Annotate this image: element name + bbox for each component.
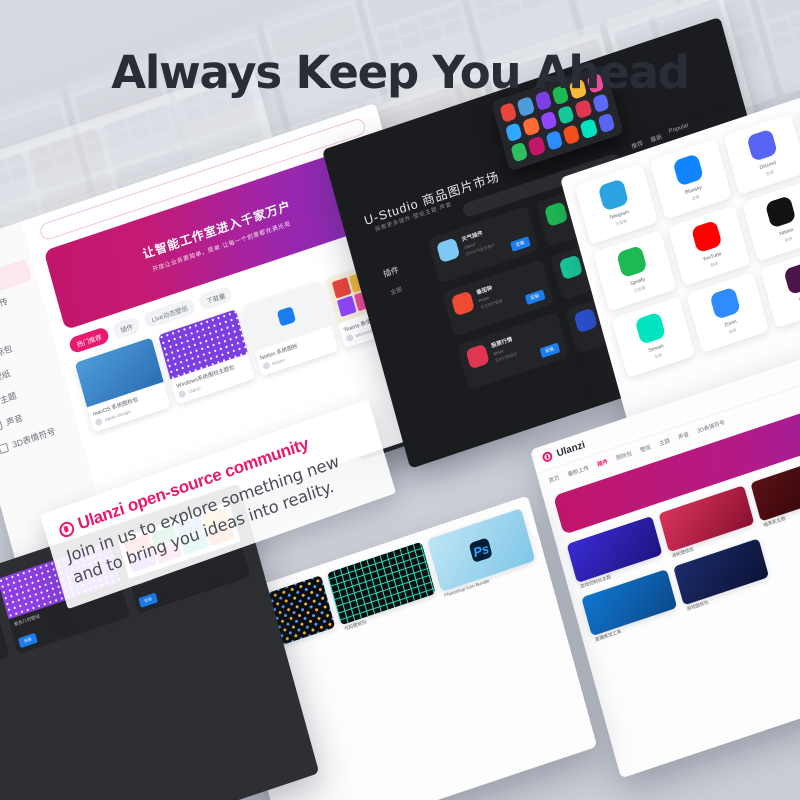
weather-icon: [436, 237, 460, 263]
card-author: Ulanzi: [188, 386, 201, 395]
discord-icon: [747, 128, 779, 161]
system-monitor-icon: [558, 255, 582, 281]
sidebar-item-label: 主题: [0, 389, 18, 406]
app-tile[interactable]: Bluesky 安装: [649, 139, 732, 220]
sidebar-item-label: 图标包: [0, 342, 14, 362]
spotify-icon: [616, 245, 648, 278]
youtube-icon: [691, 220, 723, 253]
sidebar-item-label: 壁纸: [0, 367, 12, 384]
install-button[interactable]: 安装: [138, 592, 158, 607]
notion-icon: [765, 195, 797, 228]
asset-card[interactable]: Notion 系统图标 Notion: [242, 281, 338, 376]
chip-downloads[interactable]: 下载量: [198, 285, 234, 311]
sidebar-item-label: 声音: [5, 412, 24, 429]
app-tile[interactable]: Discord 安装: [723, 114, 800, 195]
bluesky-icon: [672, 153, 704, 186]
card-author: Notion: [271, 357, 285, 366]
stream-icon: [635, 312, 667, 345]
page-headline: Always Keep You Ahead: [0, 46, 800, 99]
app-tile[interactable]: Notion 安装: [742, 180, 800, 261]
nav-plugins[interactable]: 插件: [596, 457, 609, 468]
section-subtitle: 全部: [389, 284, 403, 297]
nav-home[interactable]: 首页: [548, 473, 561, 484]
ulanzi-mark-icon: [57, 519, 75, 538]
analytics-icon: [573, 308, 597, 334]
app-tile[interactable]: Spotify 已安装: [593, 230, 676, 311]
app-tile[interactable]: Zoom 安装: [686, 272, 769, 353]
app-tile[interactable]: YouTube 安装: [667, 205, 750, 286]
sound-icon: [0, 420, 3, 432]
card-title: 彩色图标包: [0, 622, 4, 673]
photoshop-icon: Ps: [469, 537, 493, 563]
asset-card[interactable]: Windows系统图标主题包 Ulanzi: [158, 309, 254, 404]
zoom-icon: [709, 287, 741, 320]
telegram-icon: [598, 178, 630, 211]
logo-text: Ulanzi: [555, 439, 586, 459]
nav-sounds[interactable]: 声音: [677, 430, 690, 441]
avatar: [178, 390, 187, 399]
ulanzi-mark-icon: [541, 450, 553, 463]
asset-card[interactable]: Ps Photoshop Icon Bundle: [427, 508, 538, 599]
install-button[interactable]: 安装: [18, 633, 38, 648]
slack-icon: [784, 262, 800, 295]
promo-stage: Ulanzi 首页 最新上传 插件 图标包 壁纸: [0, 0, 800, 800]
avatar: [345, 334, 354, 343]
asset-card[interactable]: macOS 系统图标包 Apple Design: [75, 337, 171, 432]
tab-recommended[interactable]: 推荐: [630, 138, 644, 151]
nav-themes[interactable]: 主题: [658, 436, 671, 447]
asset-card[interactable]: 代码壁纸包: [327, 542, 438, 633]
app-tile[interactable]: Slack 安装: [760, 247, 800, 328]
section-title: 插件: [382, 264, 400, 280]
nav-wallpapers[interactable]: 壁纸: [639, 443, 652, 454]
pomodoro-icon: [451, 291, 475, 317]
install-button[interactable]: 安装: [510, 236, 531, 252]
avatar: [262, 362, 271, 371]
app-tile[interactable]: Telegram 已安装: [575, 163, 658, 244]
spotify-icon: [544, 201, 568, 227]
tab-newest[interactable]: 最新: [649, 132, 663, 145]
nav-iconpacks[interactable]: 图标包: [615, 449, 633, 462]
install-button[interactable]: 安装: [525, 289, 546, 305]
emoji-icon: [0, 442, 9, 454]
install-button[interactable]: 安装: [539, 343, 560, 359]
chip-hot[interactable]: 热门推荐: [68, 326, 110, 354]
nav-emoji[interactable]: 3D表情符号: [696, 418, 726, 435]
stock-icon: [465, 344, 489, 370]
app-tile[interactable]: Stream 安装: [612, 297, 695, 378]
avatar: [95, 417, 104, 426]
chip-plugins[interactable]: 插件: [112, 316, 142, 340]
nav-uploads[interactable]: 最新上传: [567, 463, 590, 478]
